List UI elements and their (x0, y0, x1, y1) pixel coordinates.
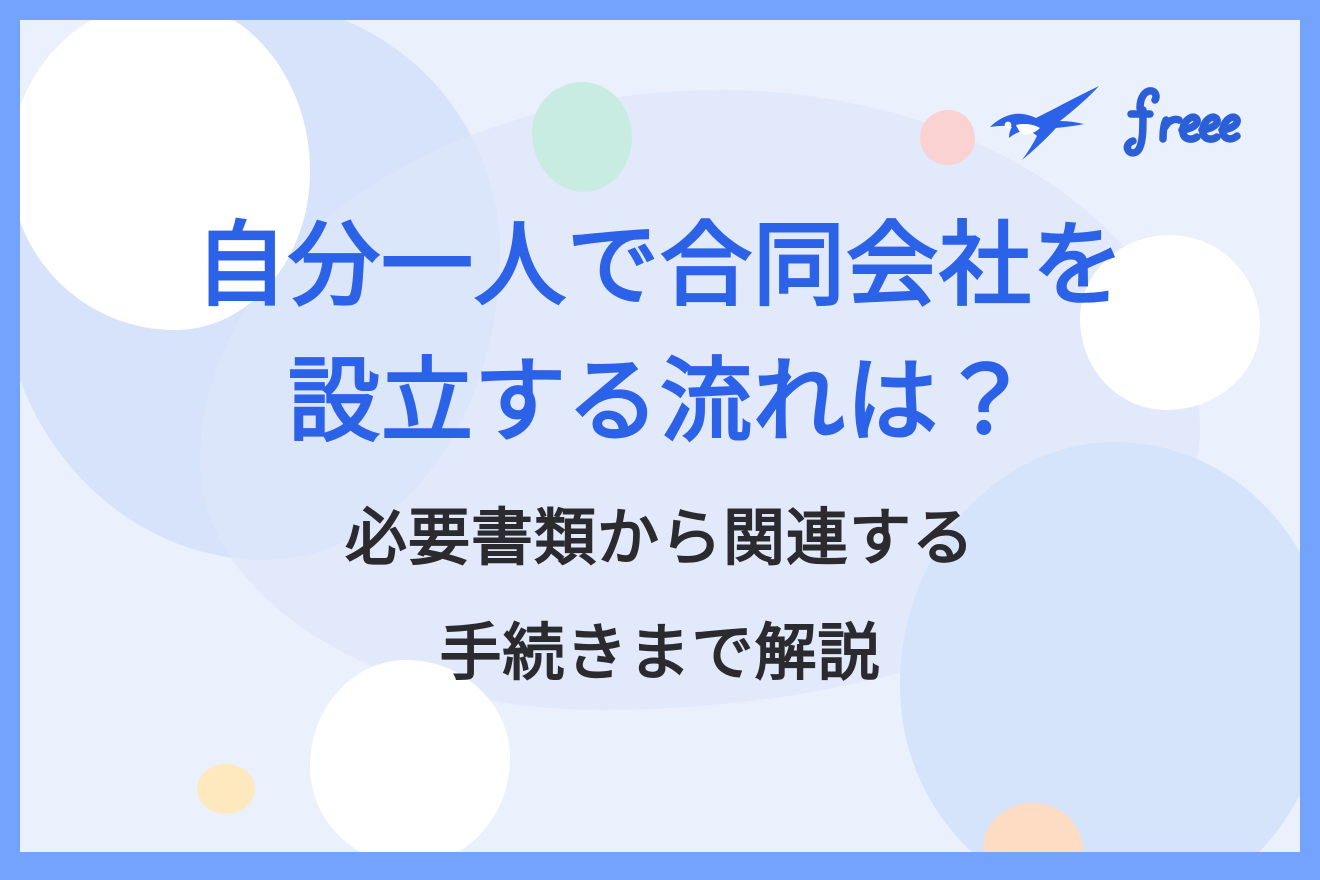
yellow-blob-decoration (197, 764, 255, 814)
freee-wordmark (1110, 82, 1250, 162)
text-content: 自分一人で合同会社を 設立する流れは？ 必要書類から関連する 手続きまで解説 (20, 198, 1300, 700)
mint-blob-decoration (532, 82, 632, 192)
freee-logo (986, 82, 1250, 162)
pink-blob-decoration (920, 110, 975, 165)
inner-panel: 自分一人で合同会社を 設立する流れは？ 必要書類から関連する 手続きまで解説 (20, 20, 1300, 852)
subhead-line-2: 手続きまで解説 (20, 607, 1300, 700)
peach-blob-decoration (983, 803, 1083, 852)
swallow-icon (986, 82, 1104, 162)
thumbnail-card: 自分一人で合同会社を 設立する流れは？ 必要書類から関連する 手続きまで解説 (0, 0, 1320, 880)
subhead-line-1: 必要書類から関連する (20, 492, 1300, 585)
headline-line-2: 設立する流れは？ (20, 334, 1300, 470)
headline-line-1: 自分一人で合同会社を (20, 198, 1300, 334)
